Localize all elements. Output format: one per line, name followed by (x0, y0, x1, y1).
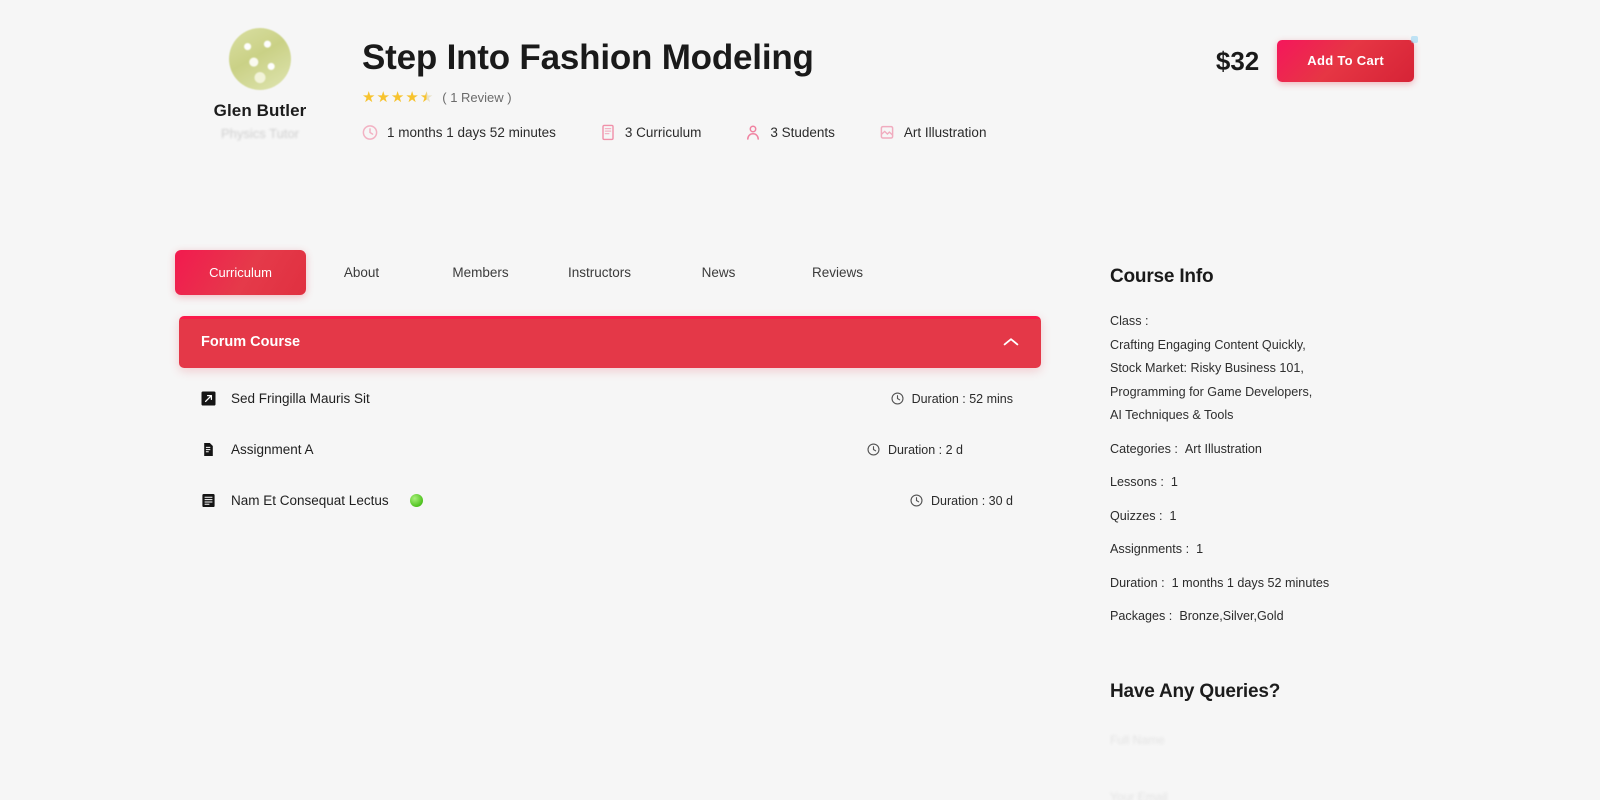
lesson-title: Sed Fringilla Mauris Sit (231, 391, 370, 406)
info-key: Lessons : (1110, 475, 1164, 489)
star-half-icon: ★ (420, 90, 433, 105)
curriculum-panel: Forum Course Sed Fringilla Mauris Sit (179, 316, 1041, 526)
class-value: Crafting Engaging Content Quickly, (1110, 334, 1470, 358)
info-key: Duration : (1110, 576, 1165, 590)
class-value: AI Techniques & Tools (1110, 404, 1470, 428)
list-item[interactable]: Sed Fringilla Mauris Sit Duration : 52 m… (179, 373, 1041, 424)
assignment-icon (201, 442, 216, 457)
completed-badge-icon (410, 494, 423, 507)
clock-icon (867, 443, 880, 456)
list-item[interactable]: Assignment A Duration : 2 d (179, 424, 1041, 475)
curriculum-section-header[interactable]: Forum Course (179, 316, 1041, 368)
star-rating: ★ ★ ★ ★ ★ (362, 90, 433, 105)
full-name-input[interactable] (1110, 733, 1410, 748)
info-row-packages: Packages : Bronze,Silver,Gold (1110, 605, 1470, 629)
info-value: Art Illustration (1185, 442, 1262, 456)
clock-icon (362, 124, 378, 141)
info-value: 1 (1170, 509, 1177, 523)
info-row-duration: Duration : 1 months 1 days 52 minutes (1110, 572, 1470, 596)
info-row-class-label: Class : (1110, 310, 1470, 334)
info-row-categories: Categories : Art Illustration (1110, 438, 1470, 462)
info-key: Quizzes : (1110, 509, 1163, 523)
meta-curriculum: 3 Curriculum (600, 124, 702, 141)
lesson-info: Sed Fringilla Mauris Sit (201, 391, 370, 406)
info-row-class-values: Crafting Engaging Content Quickly, Stock… (1110, 334, 1470, 428)
instructor-role: Physics Tutor (180, 126, 340, 141)
lesson-title: Nam Et Consequat Lectus (231, 493, 389, 508)
star-icon: ★ (405, 90, 418, 105)
info-key: Categories : (1110, 442, 1178, 456)
price-and-cart: $32 Add To Cart (1216, 40, 1414, 82)
clock-icon (910, 494, 923, 507)
review-count: ( 1 Review ) (442, 90, 511, 105)
lesson-info: Assignment A (201, 442, 314, 457)
queries-form (1110, 733, 1470, 800)
category-icon (879, 124, 895, 141)
lesson-list: Sed Fringilla Mauris Sit Duration : 52 m… (179, 373, 1041, 526)
meta-label: 1 months 1 days 52 minutes (387, 125, 556, 140)
list-item[interactable]: Nam Et Consequat Lectus Duration : 30 d (179, 475, 1041, 526)
instructor-name: Glen Butler (180, 101, 340, 121)
add-to-cart-button[interactable]: Add To Cart (1277, 40, 1414, 82)
info-value: 1 (1196, 542, 1203, 556)
lesson-info: Nam Et Consequat Lectus (201, 493, 423, 508)
info-value: Bronze,Silver,Gold (1179, 609, 1283, 623)
info-value: 1 months 1 days 52 minutes (1172, 576, 1330, 590)
course-header: Glen Butler Physics Tutor Step Into Fash… (0, 0, 1600, 190)
meta-label: 3 Students (770, 125, 835, 140)
meta-label: 3 Curriculum (625, 125, 702, 140)
curriculum-section-title: Forum Course (201, 334, 300, 350)
tab-about[interactable]: About (334, 253, 389, 292)
course-info-title: Course Info (1110, 266, 1470, 288)
instructor-block: Glen Butler Physics Tutor (180, 28, 340, 141)
page-title: Step Into Fashion Modeling (362, 38, 814, 78)
info-key: Assignments : (1110, 542, 1189, 556)
queries-section: Have Any Queries? (1110, 681, 1470, 800)
duration-label: Duration : 52 mins (912, 392, 1013, 406)
meta-label: Art Illustration (904, 125, 987, 140)
tab-news[interactable]: News (692, 253, 746, 292)
duration-label: Duration : 2 d (888, 443, 963, 457)
course-tabs: Curriculum About Members Instructors New… (179, 250, 897, 295)
course-price: $32 (1216, 46, 1259, 77)
star-icon: ★ (376, 90, 389, 105)
info-row-assignments: Assignments : 1 (1110, 538, 1470, 562)
curriculum-icon (600, 124, 616, 141)
clock-icon (891, 392, 904, 405)
info-row-quizzes: Quizzes : 1 (1110, 505, 1470, 529)
info-row-lessons: Lessons : 1 (1110, 471, 1470, 495)
avatar (229, 28, 291, 90)
students-icon (745, 124, 761, 141)
lesson-duration: Duration : 30 d (910, 494, 1013, 508)
rating-row: ★ ★ ★ ★ ★ ( 1 Review ) (362, 90, 512, 105)
course-info-list: Class : Crafting Engaging Content Quickl… (1110, 310, 1470, 629)
class-value: Stock Market: Risky Business 101, (1110, 357, 1470, 381)
quiz-icon (201, 391, 216, 406)
queries-title: Have Any Queries? (1110, 681, 1470, 703)
course-detail-page: Glen Butler Physics Tutor Step Into Fash… (0, 0, 1600, 800)
class-value: Programming for Game Developers, (1110, 381, 1470, 405)
lesson-duration: Duration : 2 d (867, 443, 963, 457)
duration-label: Duration : 30 d (931, 494, 1013, 508)
email-input[interactable] (1110, 790, 1410, 800)
meta-category: Art Illustration (879, 124, 987, 141)
info-key: Packages : (1110, 609, 1172, 623)
meta-students: 3 Students (745, 124, 835, 141)
tab-curriculum[interactable]: Curriculum (175, 250, 306, 295)
lesson-icon (201, 493, 216, 508)
chevron-up-icon[interactable] (1003, 337, 1019, 347)
lesson-duration: Duration : 52 mins (891, 392, 1013, 406)
course-meta-row: 1 months 1 days 52 minutes 3 Curriculum … (362, 124, 986, 141)
course-info-sidebar: Course Info Class : Crafting Engaging Co… (1110, 266, 1470, 800)
tab-reviews[interactable]: Reviews (802, 253, 873, 292)
star-icon: ★ (391, 90, 404, 105)
lesson-title: Assignment A (231, 442, 314, 457)
star-icon: ★ (362, 90, 375, 105)
tab-members[interactable]: Members (442, 253, 518, 292)
meta-duration: 1 months 1 days 52 minutes (362, 124, 556, 141)
info-value: 1 (1171, 475, 1178, 489)
tab-instructors[interactable]: Instructors (558, 253, 641, 292)
